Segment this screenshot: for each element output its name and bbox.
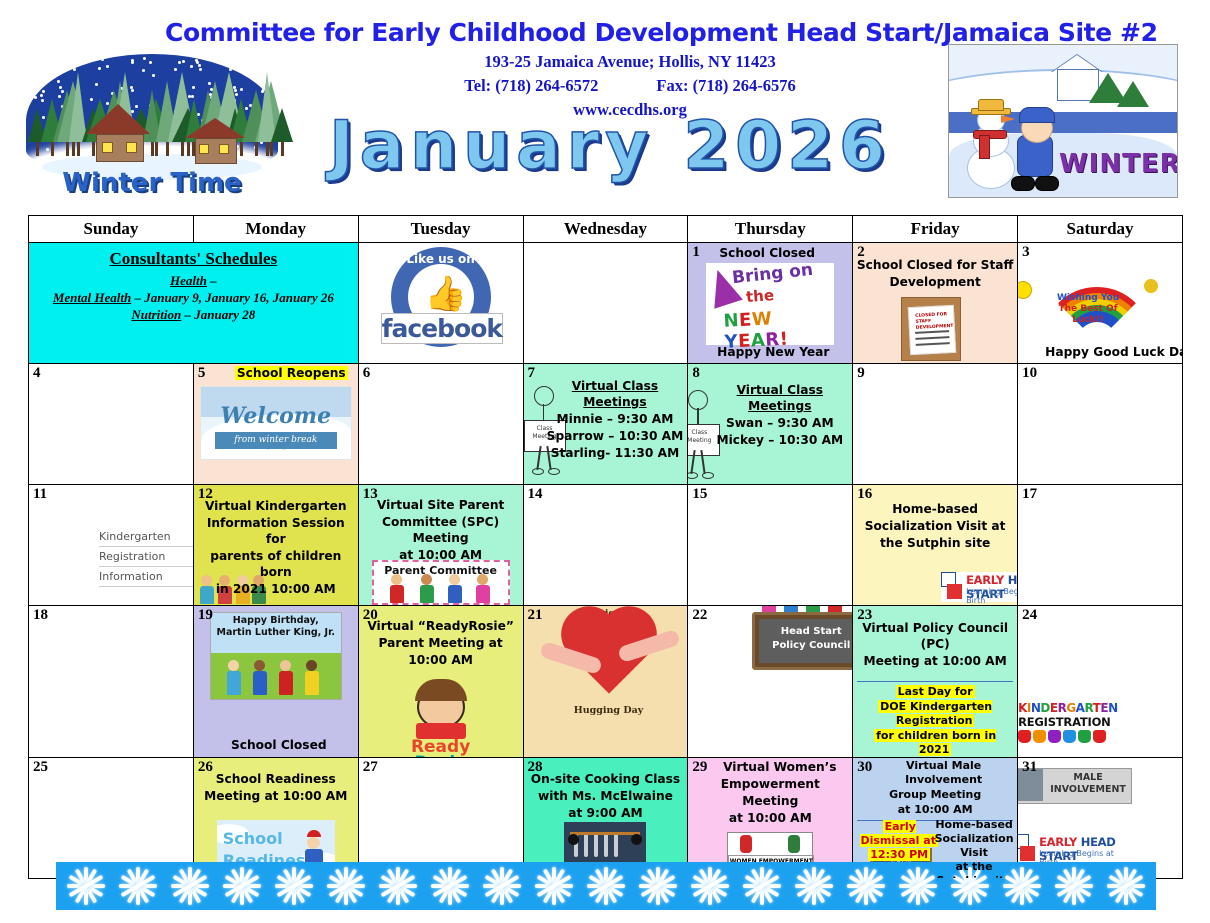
day-cell-5[interactable]: 5 School Reopens Welcome Back from winte… [193, 364, 358, 485]
national-hugging-day-clipart: National Hugging Day [524, 606, 688, 718]
snowflake-icon [1104, 864, 1148, 908]
day-cell-20[interactable]: 20 Virtual “ReadyRosie” Parent Meeting a… [358, 606, 523, 758]
hair [415, 679, 467, 701]
snowflake-icon [480, 864, 524, 908]
snowflake-icon [64, 864, 108, 908]
day-cell-6[interactable]: 6 [358, 364, 523, 485]
weekday-monday: Monday [193, 216, 358, 243]
day-1-title: School Closed [716, 244, 818, 261]
weekday-thursday: Thursday [688, 216, 853, 243]
facebook-wordmark: facebook [381, 313, 503, 344]
head-start-policy-council-clipart: Head Start Policy Council [752, 612, 853, 670]
snowflake-icon [168, 864, 212, 908]
snowflake-icon [324, 864, 368, 908]
tree-trunk [51, 142, 54, 156]
kri-line-3: Information [99, 567, 193, 587]
telephone: Tel: (718) 264-6572 [464, 74, 598, 98]
day-30-side-2: Socialization Visit [933, 832, 1015, 860]
day-16-line-1: Home-based [853, 485, 1017, 517]
calendar-week-3: 11 Kindergarten Registration Information… [29, 485, 1183, 606]
day-16-line-2: Socialization Visit at [853, 517, 1017, 534]
newyear-line-2: the [746, 286, 775, 306]
tree-trunk [270, 142, 273, 156]
day-12-line-3: parents of children born [194, 547, 358, 580]
early-dismissal-block: Early Dismissal at 12:30 PM Early Dismis… [856, 820, 942, 862]
day-number: 24 [1022, 607, 1037, 624]
nutrition-value: – January 28 [181, 307, 255, 322]
page-title: Committee for Early Childhood Developmen… [165, 18, 1085, 47]
goodluck-line-2: The Best Of Luck!! [1050, 304, 1126, 326]
snowflake-icon [688, 864, 732, 908]
weekday-tuesday: Tuesday [358, 216, 523, 243]
day-2-line-1: School Closed for Staff [853, 243, 1017, 273]
day-number: 27 [363, 759, 378, 776]
day-cell-26[interactable]: 26 School Readiness Meeting at 10:00 AM … [193, 758, 358, 879]
nutrition-label: Nutrition [131, 307, 181, 322]
day-26-line-2: Meeting at 10:00 AM [194, 787, 358, 804]
divider [857, 681, 1013, 682]
day-cell-3[interactable]: 3 Wishing You The Best O [1018, 243, 1183, 364]
day-8-line-2: Mickey – 10:30 AM [688, 431, 852, 448]
day-28-line-3: at 9:00 AM [524, 804, 688, 821]
handprints-icon [1018, 730, 1138, 743]
ehs-logo-line-2: Learning Begins at Birth [966, 587, 1018, 605]
day-13-line-2: Committee (SPC) Meeting [359, 513, 523, 546]
day-cell-31[interactable]: 31 MALE INVOLVEMENT [1018, 758, 1183, 879]
day-number: 11 [33, 486, 47, 503]
day-number: 25 [33, 759, 48, 776]
day-cell-10[interactable]: 10 [1018, 364, 1183, 485]
calendar-page: Winter Time Committee for Early Childhoo… [0, 0, 1210, 923]
day-cell-19[interactable]: 19 Happy Birthday, Martin Luther King, J… [193, 606, 358, 758]
day-13-line-3: at 10:00 AM [359, 546, 523, 563]
tree-trunk [155, 142, 158, 156]
day-number: 19 [198, 607, 213, 624]
day-23-highlight-1: Last Day for [853, 684, 1017, 699]
tree-trunk [240, 142, 243, 156]
day-20-line-2: Parent Meeting at [359, 634, 523, 651]
male-line-1: MALE [1047, 772, 1129, 784]
day-30-side-3: at the Sutphin site [933, 860, 1015, 879]
snowflake-icon [272, 864, 316, 908]
rainbow-text: Wishing You The Best Of Luck!! [1050, 293, 1126, 326]
early-head-start-logo: EARLY HEAD START Learning Begins at Birt… [941, 572, 1018, 602]
day-cell-11[interactable]: 11 Kindergarten Registration Information [29, 485, 194, 606]
consultants-title: Consultants' Schedules [35, 249, 352, 269]
mlk-birthday-clipart: Happy Birthday, Martin Luther King, Jr. [210, 612, 342, 700]
consultant-mental-health: Mental Health – January 9, January 16, J… [35, 289, 352, 306]
book-icon [416, 723, 466, 739]
day-number: 20 [363, 607, 378, 624]
male-involvement-text: MALE INVOLVEMENT [1047, 772, 1129, 796]
day-number: 8 [692, 365, 700, 382]
health-label: Health [170, 273, 207, 288]
winter-snowman-clipart: WINTER [948, 44, 1178, 198]
day-number: 3 [1022, 244, 1030, 261]
day-number: 6 [363, 365, 371, 382]
snowflake-icon [636, 864, 680, 908]
cabin-large [90, 104, 146, 160]
woman-figure [740, 835, 752, 853]
tree-trunk [281, 142, 284, 156]
welcome-back-ribbon: from winter break [215, 432, 337, 449]
calendar-week-4: 18 19 Happy Birthday, Martin Luther King… [29, 606, 1183, 758]
calendar-week-2: 4 5 School Reopens Welcome Back from win… [29, 364, 1183, 485]
snowflake-icon [220, 864, 264, 908]
kindergarten-registration-info-clipart: Kindergarten Registration Information [99, 527, 193, 587]
snowflake-icon [792, 864, 836, 908]
kindergarten-registration-clipart: KINDERGARTEN REGISTRATION [1018, 701, 1138, 743]
thumbs-up-icon: 👍 [425, 278, 467, 312]
newyear-line-1: Bring on [731, 260, 814, 288]
day-cell-15[interactable]: 15 [688, 485, 853, 606]
mental-health-value: – January 9, January 16, January 26 [131, 290, 334, 305]
consultants-schedule-cell[interactable]: Consultants' Schedules Health – Mental H… [29, 243, 359, 364]
day-13-line-1: Virtual Site Parent [359, 485, 523, 513]
tree-trunk [255, 142, 258, 156]
note-paper: CLOSED FOR STAFF DEVELOPMENT [908, 305, 956, 355]
male-line-2: INVOLVEMENT [1047, 784, 1129, 796]
day-number: 10 [1022, 365, 1037, 382]
day-number: 1 [692, 244, 700, 261]
srd-line-1: School [223, 828, 315, 850]
day-23-line-1: Virtual Policy Council (PC) [853, 606, 1017, 652]
day-7-title: Virtual Class Meetings [524, 364, 688, 410]
day-12-line-2: Information Session for [194, 514, 358, 547]
day-cell-29[interactable]: 29 Virtual Women’s Empowerment Meeting a… [688, 758, 853, 879]
health-value: – [207, 273, 217, 288]
snowflake-icon [376, 864, 420, 908]
day-12-line-4: in 2021 10:00 AM [194, 580, 358, 597]
tree-trunk [166, 142, 169, 156]
closed-note-label: CLOSED FOR STAFF DEVELOPMENT [915, 312, 950, 332]
day-28-line-2: with Ms. McElwaine [524, 787, 688, 804]
day-number: 29 [692, 759, 707, 776]
snowflake-icon [740, 864, 784, 908]
day-8-title: Virtual Class Meetings [688, 364, 852, 414]
snowflake-icon [116, 864, 160, 908]
snowflake-icon [844, 864, 888, 908]
day-19-footer: School Closed [194, 736, 358, 753]
day-number: 17 [1022, 486, 1037, 503]
address-line: 193-25 Jamaica Avenue; Hollis, NY 11423 [250, 50, 1010, 74]
day-cell-30[interactable]: 30 Virtual Male Involvement Group Meetin… [853, 758, 1018, 879]
day-cell-28[interactable]: 28 On-site Cooking Class with Ms. McElwa… [523, 758, 688, 879]
page-header: Winter Time Committee for Early Childhoo… [0, 0, 1210, 208]
consultant-health: Health – [35, 272, 352, 289]
goodluck-line-1: Wishing You [1050, 293, 1126, 304]
tree-trunk [36, 142, 39, 156]
day-29-line-4: at 10:00 AM [688, 809, 852, 826]
day-number: 4 [33, 365, 41, 382]
day-cell-16[interactable]: 16 Home-based Socialization Visit at the… [853, 485, 1018, 606]
day-23-line-2: Meeting at 10:00 AM [853, 652, 1017, 669]
kri-line-1: Kindergarten [99, 527, 193, 547]
day-number: 18 [33, 607, 48, 624]
tree-trunk [77, 142, 80, 156]
policy-council-board-text: Head Start Policy Council [759, 619, 853, 663]
weekday-wednesday: Wednesday [523, 216, 688, 243]
day-28-line-1: On-site Cooking Class [524, 758, 688, 787]
kreg-line-2: REGISTRATION [1018, 715, 1138, 729]
day-cell-12[interactable]: 12 Virtual Kindergarten Information Sess… [193, 485, 358, 606]
day-1-footer: Happy New Year [688, 343, 852, 360]
smiley-icon [1018, 281, 1033, 299]
day-23-highlight-3: for children born in 2021 [853, 728, 1017, 757]
day-cell-23[interactable]: 23 Virtual Policy Council (PC) Meeting a… [853, 606, 1018, 758]
blocks-icon [1018, 834, 1037, 862]
tree-trunk [266, 142, 269, 156]
day-5-badge: School Reopens [194, 364, 358, 381]
day-number: 9 [857, 365, 865, 382]
day-cell-1[interactable]: 1 School Closed Bring on the NEW YEAR! H… [688, 243, 853, 364]
day-cell-27[interactable]: 27 [358, 758, 523, 879]
good-luck-rainbow-clipart: Wishing You The Best Of Luck!! [1018, 277, 1163, 333]
day-number: 7 [528, 365, 536, 382]
snowflake-icon [1052, 864, 1096, 908]
day-cell-24[interactable]: 24 KINDERGARTEN REGISTRATION [1018, 606, 1183, 758]
kri-line-2: Registration [99, 547, 193, 567]
day-30-highlight-1: Early Dismissal at [856, 820, 942, 848]
kreg-line-1: KINDERGARTEN [1018, 701, 1138, 715]
snowflake-icon [428, 864, 472, 908]
day-cell-8[interactable]: 8 Class Meeting Virtual Class Meetings S… [688, 364, 853, 485]
bring-on-the-new-year-clipart: Bring on the NEW YEAR! [706, 263, 834, 345]
tree-trunk [181, 142, 184, 156]
parent-committee-clipart: Parent Committee [372, 560, 510, 605]
day-number: 2 [857, 244, 865, 261]
day-30-line-2: Group Meeting [853, 787, 1017, 802]
day-cell-empty-wednesday[interactable] [523, 243, 688, 364]
day-number: 16 [857, 486, 872, 503]
pc-line-2: Policy Council [759, 639, 853, 653]
day-30-line-3: at 10:00 AM [853, 802, 1017, 817]
day-number: 28 [528, 759, 543, 776]
day-number: 5 [198, 365, 206, 382]
woman-figure [788, 835, 800, 853]
winter-time-label: Winter Time [24, 168, 280, 198]
fax: Fax: (718) 264-6576 [656, 74, 795, 98]
sun-icon [1144, 279, 1158, 293]
day-8-line-1: Swan – 9:30 AM [688, 414, 852, 431]
day-30-side-1: Home-based [933, 818, 1015, 832]
day-cell-25[interactable]: 25 [29, 758, 194, 879]
mental-health-label: Mental Health [53, 290, 131, 305]
cabin-small [190, 118, 240, 162]
day-cell-17[interactable]: 17 [1018, 485, 1183, 606]
mlk-text: Happy Birthday, Martin Luther King, Jr. [211, 615, 341, 639]
weekday-header-row: Sunday Monday Tuesday Wednesday Thursday… [29, 216, 1183, 243]
day-cell-9[interactable]: 9 [853, 364, 1018, 485]
pc-line-1: Head Start [759, 625, 853, 639]
day-cell-empty-tuesday[interactable]: Like us on 👍 facebook [358, 243, 523, 364]
day-cell-4[interactable]: 4 [29, 364, 194, 485]
day-29-line-1: Virtual Women’s [688, 758, 852, 775]
blocks-icon [941, 572, 963, 600]
hugging-day-bottom: Hugging Day [524, 705, 688, 716]
snowflake-icon [584, 864, 628, 908]
day-cell-18[interactable]: 18 [29, 606, 194, 758]
tree-trunk [72, 142, 75, 156]
day-cell-14[interactable]: 14 [523, 485, 688, 606]
facebook-like-badge[interactable]: Like us on 👍 facebook [381, 247, 501, 355]
day-30-highlight-2: 12:30 PM [856, 848, 942, 862]
weekday-sunday: Sunday [29, 216, 194, 243]
day-number: 12 [198, 486, 213, 503]
weekday-friday: Friday [853, 216, 1018, 243]
day-number: 13 [363, 486, 378, 503]
tree-trunk [151, 142, 154, 156]
day-7-line-2: Sparrow – 10:30 AM [524, 427, 688, 444]
day-26-line-1: School Readiness [194, 758, 358, 787]
day-number: 21 [528, 607, 543, 624]
child-icon [1011, 111, 1063, 191]
month-year-title: January 2026 [300, 110, 920, 182]
day-number: 15 [692, 486, 707, 503]
home-based-visit-block: Home-based Socialization Visit at the Su… [933, 818, 1015, 879]
day-number: 23 [857, 607, 872, 624]
closed-for-staff-development-clipart: CLOSED FOR STAFF DEVELOPMENT [901, 297, 961, 361]
tree-trunk [66, 142, 69, 156]
day-cell-2[interactable]: 2 School Closed for Staff Development CL… [853, 243, 1018, 364]
day-30-line-1: Virtual Male Involvement [853, 758, 1017, 787]
consultants-schedule: Consultants' Schedules Health – Mental H… [29, 243, 358, 323]
day-12-line-1: Virtual Kindergarten [194, 485, 358, 514]
ready-rosie-logo: Ready Rosie [404, 685, 478, 758]
day-29-line-3: Meeting [688, 792, 852, 809]
day-number: 14 [528, 486, 543, 503]
day-3-footer: Happy Good Luck Day [1018, 343, 1183, 360]
day-7-line-1: Minnie – 9:30 AM [524, 410, 688, 427]
day-cell-7[interactable]: 7 Class Meeting Virtual Class Meetings M… [523, 364, 688, 485]
early-head-start-logo: EARLY HEAD START Learning Begins at Birt… [1018, 834, 1133, 864]
day-cell-13[interactable]: 13 Virtual Site Parent Committee (SPC) M… [358, 485, 523, 606]
mlk-line-2: Martin Luther King, Jr. [211, 627, 341, 639]
day-cell-21[interactable]: 21 National Hugging Day [523, 606, 688, 758]
pine-tree-icon [1117, 81, 1149, 107]
day-20-line-1: Virtual “ReadyRosie” [359, 606, 523, 634]
day-number: 22 [692, 607, 707, 624]
day-number: 31 [1022, 759, 1037, 776]
welcome-back-clipart: Welcome Back from winter break [200, 386, 352, 460]
day-number: 30 [857, 759, 872, 776]
winter-word: WINTER [1059, 149, 1178, 179]
calendar-week-5: 25 26 School Readiness Meeting at 10:00 … [29, 758, 1183, 879]
weekday-saturday: Saturday [1018, 216, 1183, 243]
day-23-highlight-2: DOE Kindergarten Registration [853, 699, 1017, 728]
day-7-line-3: Starling- 11:30 AM [524, 444, 688, 461]
day-number: 26 [198, 759, 213, 776]
day-cell-22[interactable]: 22 Head Start Policy Council [688, 606, 853, 758]
day-29-line-2: Empowerment [688, 775, 852, 792]
consultant-nutrition: Nutrition – January 28 [35, 306, 352, 323]
day-16-line-3: the Sutphin site [853, 534, 1017, 551]
calendar-grid: Sunday Monday Tuesday Wednesday Thursday… [28, 215, 1183, 879]
calendar-week-1: Consultants' Schedules Health – Mental H… [29, 243, 1183, 364]
day-2-line-2: Development [853, 273, 1017, 290]
day-20-line-3: 10:00 AM [359, 651, 523, 668]
snowflake-icon [532, 864, 576, 908]
mlk-line-1: Happy Birthday, [211, 615, 341, 627]
